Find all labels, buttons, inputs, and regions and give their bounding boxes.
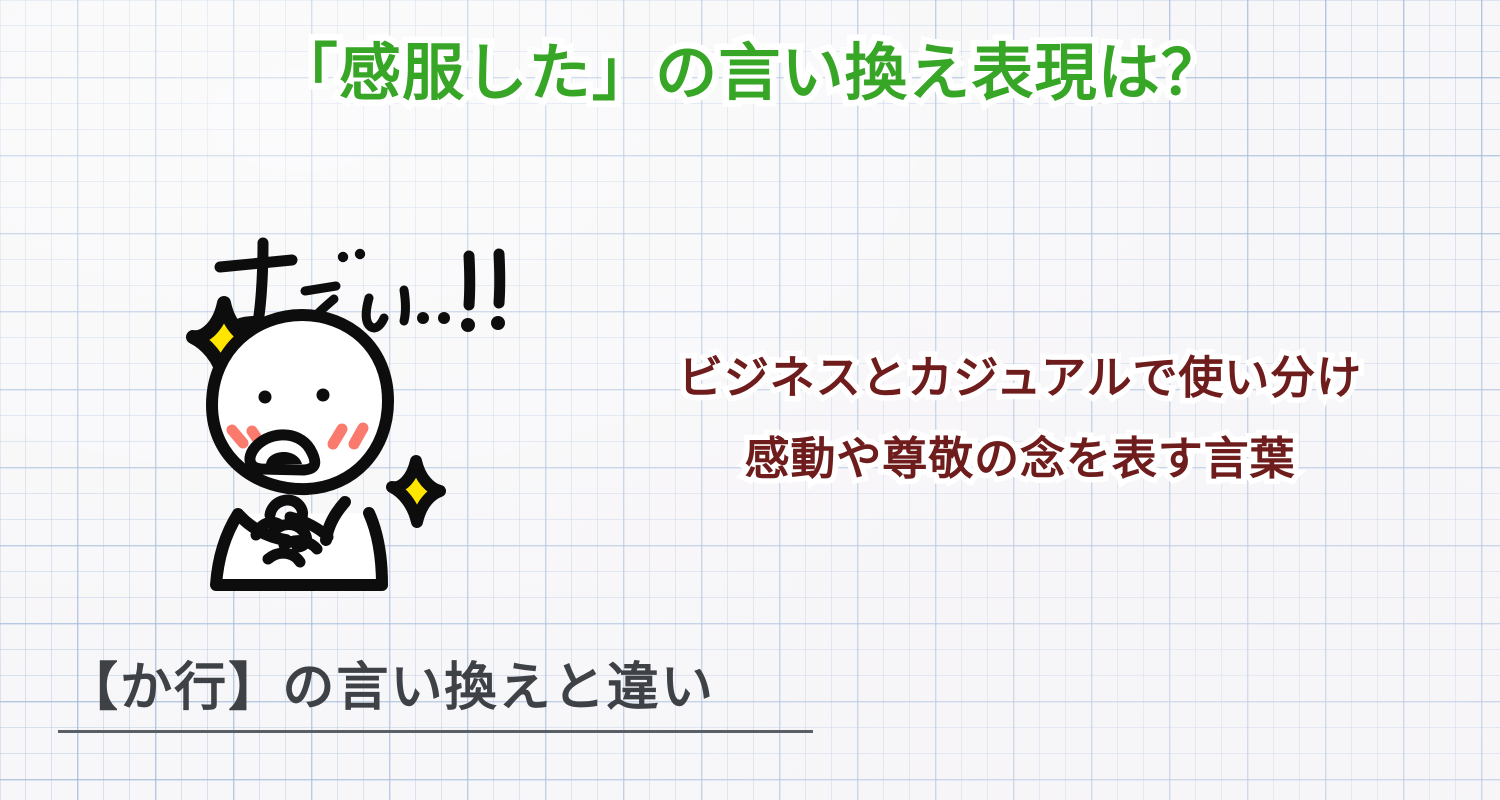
footer-category-label: 【か行】の言い換えと違い xyxy=(66,662,715,714)
character-mouth xyxy=(250,435,315,470)
footer-underline xyxy=(58,730,813,733)
page-title: 「感服した」の言い換え表現は？ xyxy=(0,42,1500,104)
subheading-line-1: ビジネスとカジュアルで使い分け xyxy=(640,355,1400,400)
amazed-character-illustration xyxy=(120,215,510,605)
subheading-line-2: 感動や尊敬の念を表す言葉 xyxy=(640,436,1400,481)
poster-canvas: 「感服した」の言い換え表現は？ ビジネスとカジュアルで使い分け 感動や尊敬の念を… xyxy=(0,0,1500,800)
sparkle-small-icon xyxy=(392,461,440,522)
